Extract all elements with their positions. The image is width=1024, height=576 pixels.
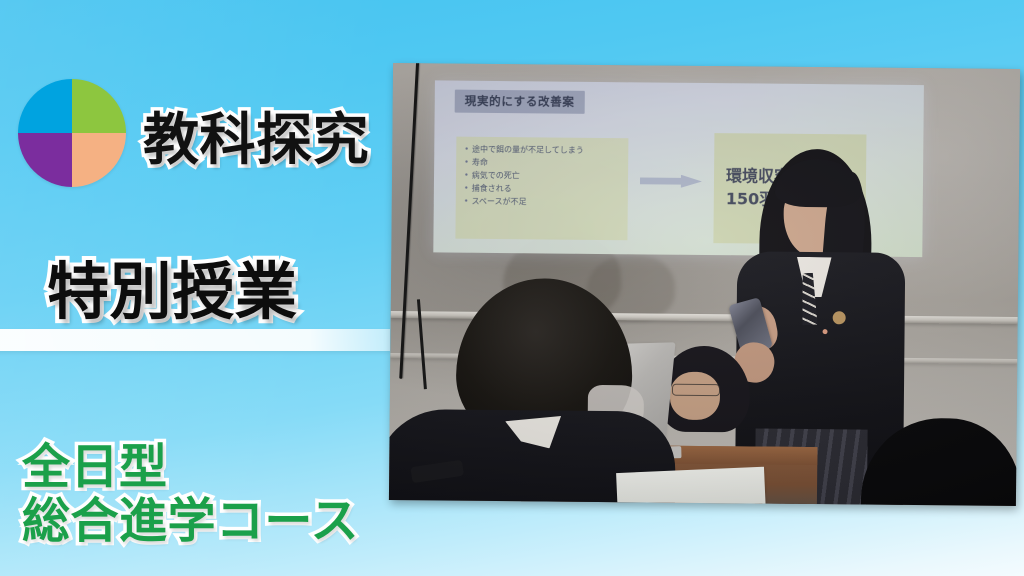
logo-quadrant-top-right bbox=[72, 79, 126, 133]
title-underline-band bbox=[0, 329, 390, 351]
slide-bullet-box: 途中で餌の量が不足してしまう 寿命 病気での死亡 捕食される スペースが不足 bbox=[455, 137, 628, 241]
four-quadrant-circle-logo bbox=[18, 79, 126, 187]
eyeglasses bbox=[672, 384, 720, 396]
classroom-photo: 現実的にする改善案 途中で餌の量が不足してしまう 寿命 病気での死亡 捕食される… bbox=[389, 63, 1020, 506]
program-title: 教科探究 bbox=[143, 111, 369, 171]
course-label-line1: 全日型 bbox=[22, 439, 167, 495]
logo-quadrant-bottom-left bbox=[18, 133, 72, 187]
thumbnail-canvas: 教科探究 特別授業 全日型 総合進学コース 現実的にする改善案 途中で餌の量が不… bbox=[0, 0, 1024, 576]
photo-content: 現実的にする改善案 途中で餌の量が不足してしまう 寿命 病気での死亡 捕食される… bbox=[389, 63, 1020, 506]
presenting-student-badge bbox=[833, 311, 846, 324]
slide-bullet-item: スペースが不足 bbox=[464, 195, 622, 209]
logo-quadrant-bottom-right bbox=[72, 133, 126, 187]
slide-bullet-list: 途中で餌の量が不足してしまう 寿命 病気での死亡 捕食される スペースが不足 bbox=[464, 144, 623, 210]
page-title: 特別授業 bbox=[47, 259, 297, 326]
right-arrow-icon bbox=[640, 174, 702, 188]
paper-sheet bbox=[616, 467, 766, 506]
course-label-line2: 総合進学コース bbox=[22, 495, 359, 549]
slide-title: 現実的にする改善案 bbox=[455, 90, 585, 114]
logo-quadrant-top-left bbox=[18, 79, 72, 133]
course-label: 全日型 総合進学コース bbox=[22, 441, 359, 549]
